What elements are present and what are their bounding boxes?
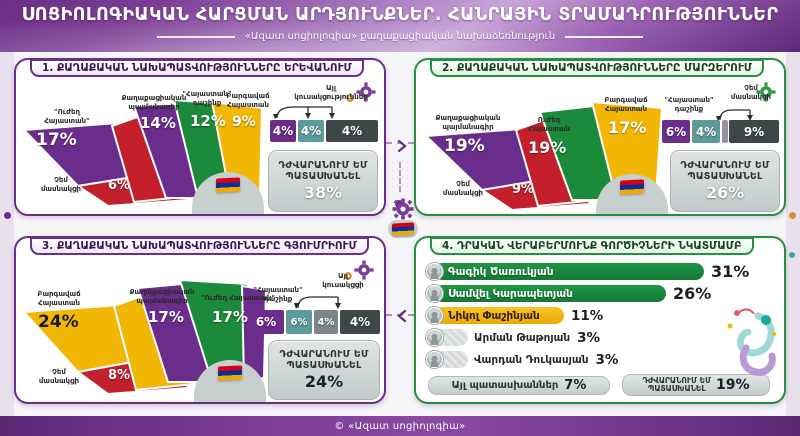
armenian-flag-icon xyxy=(218,365,242,380)
panel-1-pct-2: 14% xyxy=(140,114,176,132)
panel-2-title: 2. ՔԱՂԱՔԱԿԱՆ ՆԱԽԱՊԱՏՎՈՒԹՅՈՒՆՆԵՐԸ ՄԱՐԶԵՐՈ… xyxy=(430,59,764,77)
panel-1-title: 1. ՔԱՂԱՔԱԿԱՆ ՆԱԽԱՊԱՏՎՈՒԹՅՈՒՆՆԵՐԸ ԵՐԵՎԱՆՈ… xyxy=(30,59,364,77)
candidate-row[interactable]: Վարդան Դուկասյան 3% xyxy=(426,350,618,369)
panel-2-dk-label: ԴԺՎԱՐԱՆՈՒՄ ԵՄՊԱՏԱՍԽԱՆԵԼ xyxy=(680,160,769,182)
candidate-name: Նիկոլ Փաշինյան xyxy=(448,310,540,322)
panel-2-pct-0: 19% xyxy=(444,136,485,156)
panel-1-dk-value: 38% xyxy=(304,183,342,202)
panel-yerevan: 1. ՔԱՂԱՔԱԿԱՆ ՆԱԽԱՊԱՏՎՈՒԹՅՈՒՆՆԵՐԸ ԵՐԵՎԱՆՈ… xyxy=(14,58,386,216)
candidate-value: 3% xyxy=(595,352,618,368)
panel-3-pct-3: 17% xyxy=(212,308,248,326)
avatar xyxy=(426,329,443,346)
node-dot-d xyxy=(789,252,795,258)
panel-2-group-label: Չեմմասնակցի xyxy=(722,84,780,101)
panel-2-chip-0: 6% xyxy=(662,120,690,143)
panel-1-group-arrows xyxy=(272,102,364,120)
candidate-row[interactable]: Գագիկ Ծառուկյան 31% xyxy=(426,262,749,281)
panel-3-pct-abstain: 8% xyxy=(108,368,130,383)
panel-1-group-label: Այլկուսակցություններ xyxy=(288,84,374,101)
panel-3-group-arrows xyxy=(294,292,364,310)
panel-3-dk-box: ԴԺՎԱՐԱՆՈՒՄ ԵՄՊԱՏԱՍԽԱՆԵԼ 24% xyxy=(268,340,380,400)
panel-3-pct-0: 24% xyxy=(38,312,79,332)
candidate-name: Սամվել Կարապետյան xyxy=(448,288,573,300)
panel-1-pct-4: 9% xyxy=(232,114,256,130)
panel-4-title: 4. ԴՐԱԿԱՆ ՎԵՐԱԲԵՐՄՈՒՆՔ ԳՈՐԾԻՉՆԵՐԻ ՆԿԱՏՄԱ… xyxy=(430,237,754,255)
panel-2-chip-sliver xyxy=(722,120,728,143)
panel-4-body: Գագիկ Ծառուկյան 31% Սամվել Կարապետյան 26… xyxy=(416,256,784,402)
panel-2-label-3: ԲարգավաճՀայաստան xyxy=(598,96,654,113)
panel-2-chip-2: 9% xyxy=(729,120,779,143)
panel-1-pct-3: 12% xyxy=(190,112,226,130)
panel-gyumri: 3. ՔԱՂԱՔԱԿԱՆ ՆԱԽԱՊԱՏՎՈՒԹՅՈՒՆՆԵՐԸ ԳՅՈՒՄՐԻ… xyxy=(14,236,386,404)
candidate-name: Գագիկ Ծառուկյան xyxy=(448,266,554,278)
infographic-canvas: 1. ՔԱՂԱՔԱԿԱՆ ՆԱԽԱՊԱՏՎՈՒԹՅՈՒՆՆԵՐԸ ԵՐԵՎԱՆՈ… xyxy=(0,52,800,416)
candidate-value: 3% xyxy=(577,330,600,346)
armenian-flag-icon xyxy=(392,222,414,235)
panel-1-dk-label: ԴԺՎԱՐԱՆՈՒՄ ԵՄՊԱՏԱՍԽԱՆԵԼ xyxy=(278,160,367,182)
avatar xyxy=(426,263,443,280)
chevron-left-icon xyxy=(396,310,408,322)
panel-3-body: ԲարգավաճՀայաստան 24% Չեմմասնակցի 8% Քաղա… xyxy=(16,256,384,402)
panel-3-chip-2: 4% xyxy=(340,310,380,334)
candidate-name: Արման Թաթոյան xyxy=(474,332,570,344)
avatar xyxy=(426,351,443,368)
panel-3-dk-value: 24% xyxy=(305,372,343,391)
panel-2-chip-1: 4% xyxy=(692,120,720,143)
page-title: ՍՈՑԻՈԼՈԳԻԱԿԱՆ ՀԱՐՑՄԱՆ ԱՐԴՅՈՒՆՔՆԵՐ. ՀԱՆՐԱ… xyxy=(0,5,800,25)
connector-dash-vertical xyxy=(399,162,401,192)
panel-2-label-abstain: Չեմմասնակցի xyxy=(432,180,494,197)
panel-4-other-box: Այլ պատասխաններ 7% xyxy=(428,376,610,395)
candidate-row[interactable]: Արման Թաթոյան 3% xyxy=(426,328,600,347)
candidate-name: Վարդան Դուկասյան xyxy=(474,354,588,366)
rule-left xyxy=(157,36,235,38)
panel-1-pct-0: 17% xyxy=(36,130,77,150)
page-header: ՍՈՑԻՈԼՈԳԻԱԿԱՆ ՀԱՐՑՄԱՆ ԱՐԴՅՈՒՆՔՆԵՐ. ՀԱՆՐԱ… xyxy=(0,0,800,52)
panel-1-chip-0: 4% xyxy=(270,120,296,142)
panel-2-pct-3: 17% xyxy=(608,118,646,137)
panel-3-label-abstain: Չեմմասնակցի xyxy=(28,368,90,385)
panel-1-chip-1: 4% xyxy=(298,120,324,142)
candidate-bar: Նիկոլ Փաշինյան xyxy=(434,307,564,324)
panel-regions: 2. ՔԱՂԱՔԱԿԱՆ ՆԱԽԱՊԱՏՎՈՒԹՅՈՒՆՆԵՐԸ ՄԱՐԶԵՐՈ… xyxy=(414,58,786,216)
panel-1-body: "ՈւժեղՀայաստան" 17% Չեմմասնակցի 6% Քաղաք… xyxy=(16,78,384,214)
center-flag-badge xyxy=(388,220,418,238)
center-gear-icon xyxy=(392,198,414,220)
avatar xyxy=(426,285,443,302)
panel-3-title: 3. ՔԱՂԱՔԱԿԱՆ ՆԱԽԱՊԱՏՎՈՒԹՅՈՒՆՆԵՐԸ ԳՅՈՒՄՐԻ… xyxy=(30,237,369,255)
panel-3-group-label: Այլկուսակցցի xyxy=(308,272,378,289)
page-subtitle: «Ազատ սոցիոլոգիա» քաղաքացիական նախաձեռնո… xyxy=(245,31,555,42)
panel-figures: 4. ԴՐԱԿԱՆ ՎԵՐԱԲԵՐՄՈՒՆՔ ԳՈՐԾԻՉՆԵՐԻ ՆԿԱՏՄԱ… xyxy=(414,236,786,404)
panel-3-pct-2: 17% xyxy=(148,308,184,326)
panel-1-label-abstain: Չեմմասնակցի xyxy=(30,176,92,193)
panel-1-label-0: "ՈւժեղՀայաստան" xyxy=(32,108,102,125)
footer-credit: © «Ազատ սոցիոլոգիա» xyxy=(334,421,465,432)
rule-right xyxy=(565,36,643,38)
candidate-value: 31% xyxy=(711,262,749,281)
armenian-flag-icon xyxy=(620,179,644,194)
panel-4-decor-flourish xyxy=(724,304,782,378)
subtitle-row: «Ազատ սոցիոլոգիա» քաղաքացիական նախաձեռնո… xyxy=(0,31,800,42)
candidate-value: 26% xyxy=(673,284,711,303)
panel-3-chip-0: 6% xyxy=(286,310,312,334)
panel-1-pct-abstain: 6% xyxy=(108,178,130,193)
page-footer: © «Ազատ սոցիոլոգիա» xyxy=(0,416,800,436)
candidate-value: 11% xyxy=(571,308,603,324)
panel-2-label-0: Քաղաքացիականպայմանագիր xyxy=(426,114,510,131)
node-dot-c xyxy=(789,212,796,219)
panel-1-dk-box: ԴԺՎԱՐԱՆՈՒՄ ԵՄՊԱՏԱՍԽԱՆԵԼ 38% xyxy=(268,150,378,212)
other-value: 7% xyxy=(564,378,586,393)
panel-2-dk-box: ԴԺՎԱՐԱՆՈՒՄ ԵՄՊԱՏԱՍԽԱՆԵԼ 26% xyxy=(670,150,780,212)
chevron-right-icon xyxy=(396,140,408,152)
panel-2-chip-label: "Հայաստան"դաշինք xyxy=(658,96,720,113)
panel-3-label-0: ԲարգավաճՀայաստան xyxy=(28,290,90,307)
panel-2-pct-2: 19% xyxy=(528,138,566,157)
panel-1-label-4: ԲարգավաճՀայաստան xyxy=(222,92,274,109)
panel-2-body: Քաղաքացիականպայմանագիր 19% Չեմմասնակցի 9… xyxy=(416,78,784,214)
panel-3-chip-1: 4% xyxy=(314,310,338,334)
other-label: Այլ պատասխաններ xyxy=(452,380,559,391)
panel-4-dk-value: 19% xyxy=(716,377,750,393)
candidate-bar: Սամվել Կարապետյան xyxy=(434,285,666,302)
panel-2-label-2: ՈւժեղՀայաստան xyxy=(520,116,578,133)
panel-3-chip-main: 6% xyxy=(248,310,284,334)
node-dot-b xyxy=(4,212,11,219)
panel-4-dk-label: ԴԺՎԱՐԱՆՈՒՄ ԵՄՊԱՏԱՍԽԱՆԵԼ xyxy=(643,377,711,394)
panel-3-dk-label: ԴԺՎԱՐԱՆՈՒՄ ԵՄՊԱՏԱՍԽԱՆԵԼ xyxy=(279,349,368,371)
avatar xyxy=(426,307,443,324)
armenian-flag-icon xyxy=(216,177,240,192)
panel-2-dk-value: 26% xyxy=(706,183,744,202)
candidate-row[interactable]: Սամվել Կարապետյան 26% xyxy=(426,284,711,303)
panel-1-chip-2: 4% xyxy=(326,120,378,142)
candidate-row[interactable]: Նիկոլ Փաշինյան 11% xyxy=(426,306,603,325)
panel-3-label-2: Քաղաքացիականպայմանագիր xyxy=(120,288,204,305)
candidate-bar: Գագիկ Ծառուկյան xyxy=(434,263,704,280)
panel-2-pct-abstain: 9% xyxy=(512,182,534,197)
